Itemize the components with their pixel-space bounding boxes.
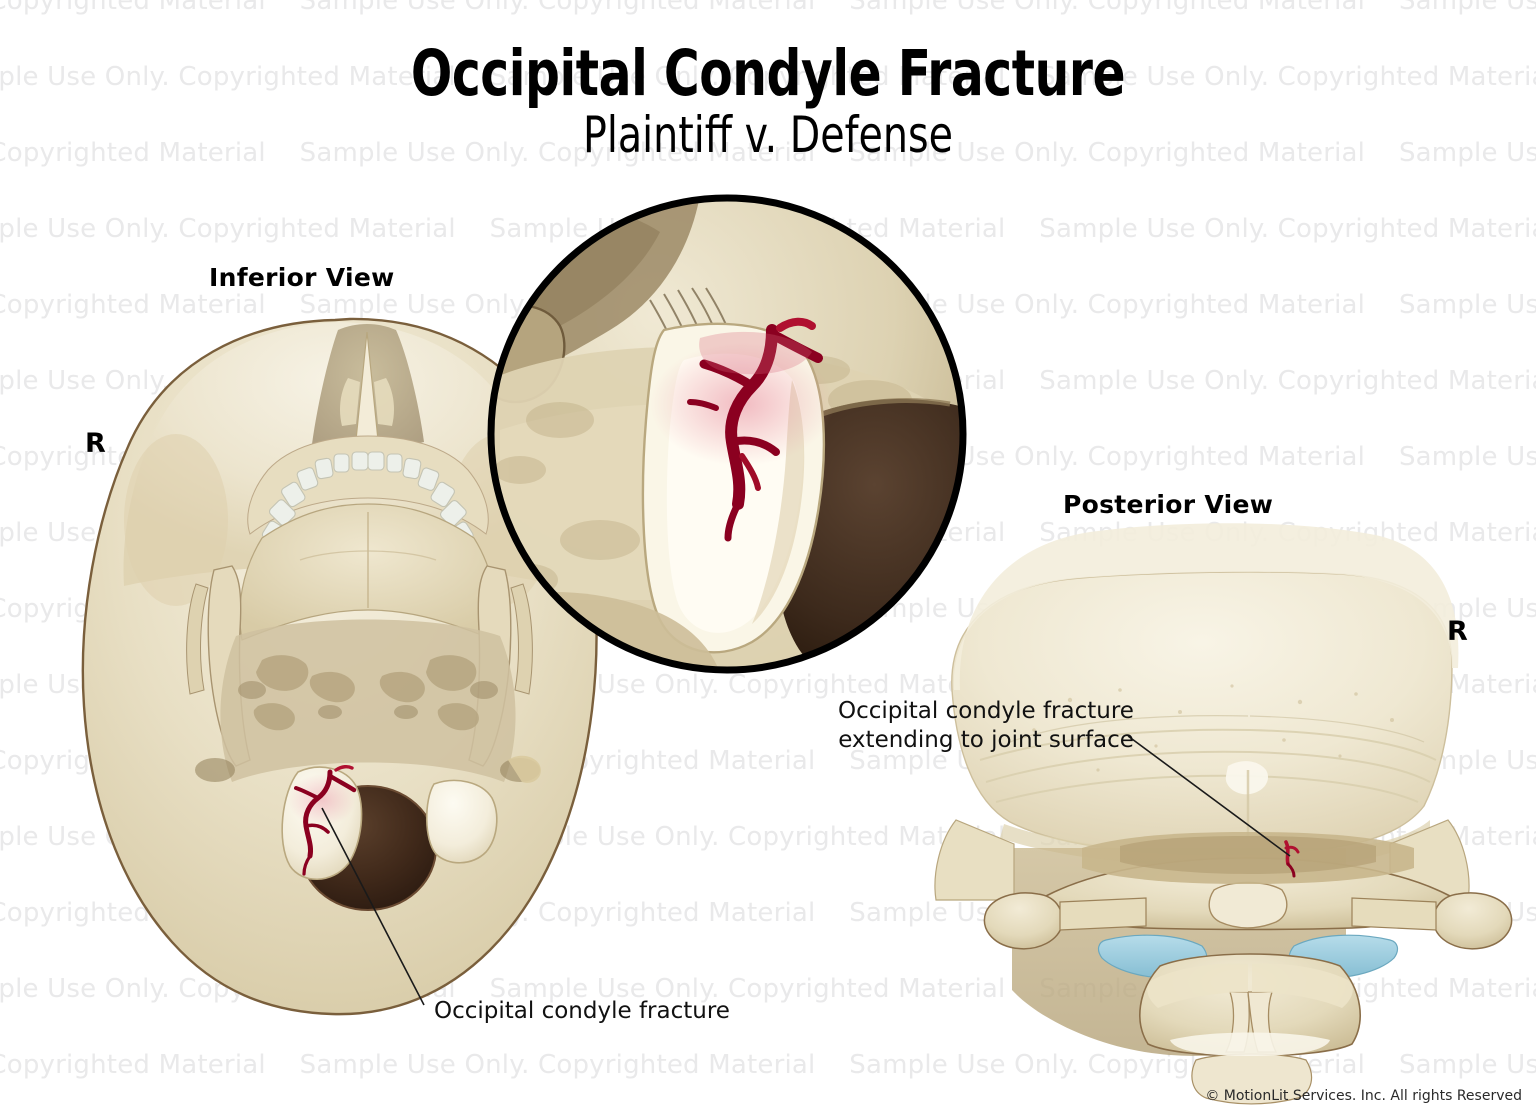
label-inferior-view: Inferior View: [209, 263, 394, 292]
annotation-posterior-line2: extending to joint surface: [838, 726, 1134, 755]
medical-illustration-art: [0, 0, 1536, 1112]
annotation-posterior-line1: Occipital condyle fracture: [838, 697, 1134, 726]
title-block: Occipital Condyle Fracture Plaintiff v. …: [0, 42, 1536, 163]
label-posterior-view: Posterior View: [1063, 490, 1273, 519]
page-title: Occipital Condyle Fracture: [108, 42, 1429, 106]
posterior-view-skull: [935, 523, 1512, 1104]
copyright-notice: © MotionLit Services. Inc. All rights Re…: [1205, 1088, 1522, 1104]
side-marker-right: R: [1447, 616, 1468, 647]
illustration-canvas: Sample Use Only. Copyrighted Material Sa…: [0, 0, 1536, 1112]
annotation-posterior-fracture: Occipital condyle fracture extending to …: [838, 697, 1134, 756]
page-subtitle: Plaintiff v. Defense: [92, 108, 1444, 163]
annotation-inferior-fracture: Occipital condyle fracture: [434, 997, 730, 1026]
side-marker-left: R: [85, 428, 106, 459]
